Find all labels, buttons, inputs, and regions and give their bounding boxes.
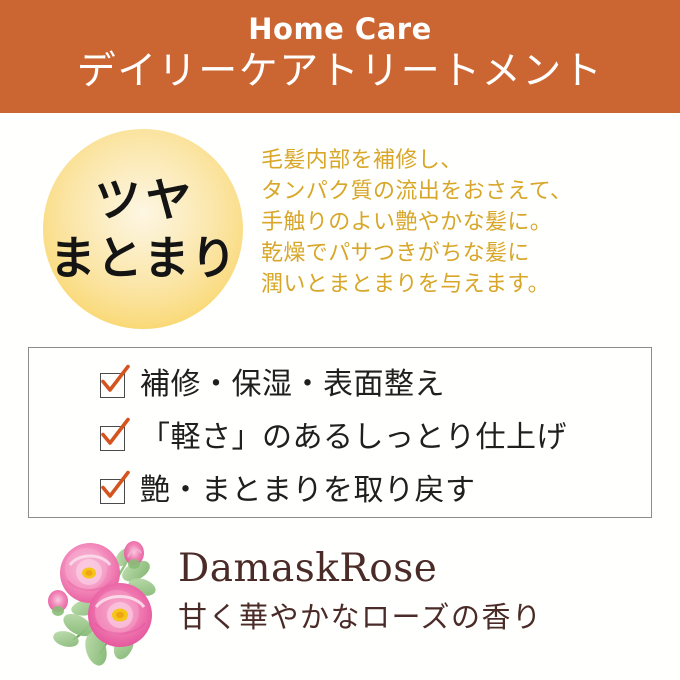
list-item[interactable]: 補修・保湿・表面整え (100, 360, 620, 409)
fragrance-subtitle: 甘く華やかなローズの香り (178, 597, 648, 637)
damask-rose-icon (38, 527, 183, 672)
checkmark-icon[interactable] (100, 426, 127, 453)
checklist-item-label: 補修・保湿・表面整え (140, 367, 445, 403)
badge-label-primary: ツヤ (90, 172, 197, 228)
checkmark-icon[interactable] (100, 479, 127, 506)
benefit-checklist: 補修・保湿・表面整え 「軽さ」のあるしっとり仕上げ 艶・まとまりを取り戻す (100, 360, 620, 519)
description-line: 乾燥でパサつきがちな髪に (261, 238, 661, 269)
benefit-badge: ツヤ まとまり (43, 129, 243, 329)
fragrance-title: DamaskRose (178, 546, 648, 592)
checkmark-icon[interactable] (100, 373, 127, 400)
list-item[interactable]: 艶・まとまりを取り戻す (100, 466, 620, 515)
list-item[interactable]: 「軽さ」のあるしっとり仕上げ (100, 413, 620, 462)
header-title-en: Home Care (248, 12, 432, 46)
description-line: 手触りのよい艶やかな髪に。 (261, 207, 661, 238)
description-line: タンパク質の流出をおさえて、 (261, 176, 661, 207)
fragrance-block: DamaskRose 甘く華やかなローズの香り (178, 546, 648, 637)
promo-card: Home Care デイリーケアトリートメント ツヤ まとまり 毛髪内部を補修し… (0, 0, 680, 680)
header-title-jp: デイリーケアトリートメント (77, 46, 604, 98)
badge-label-secondary: まとまり (49, 230, 238, 286)
header-band: Home Care デイリーケアトリートメント (0, 0, 680, 113)
checklist-item-label: 「軽さ」のあるしっとり仕上げ (140, 420, 567, 456)
description-line: 毛髪内部を補修し、 (261, 145, 661, 176)
checklist-item-label: 艶・まとまりを取り戻す (140, 473, 476, 509)
product-description: 毛髪内部を補修し、 タンパク質の流出をおさえて、 手触りのよい艶やかな髪に。 乾… (261, 145, 661, 300)
description-line: 潤いとまとまりを与えます。 (261, 269, 661, 300)
